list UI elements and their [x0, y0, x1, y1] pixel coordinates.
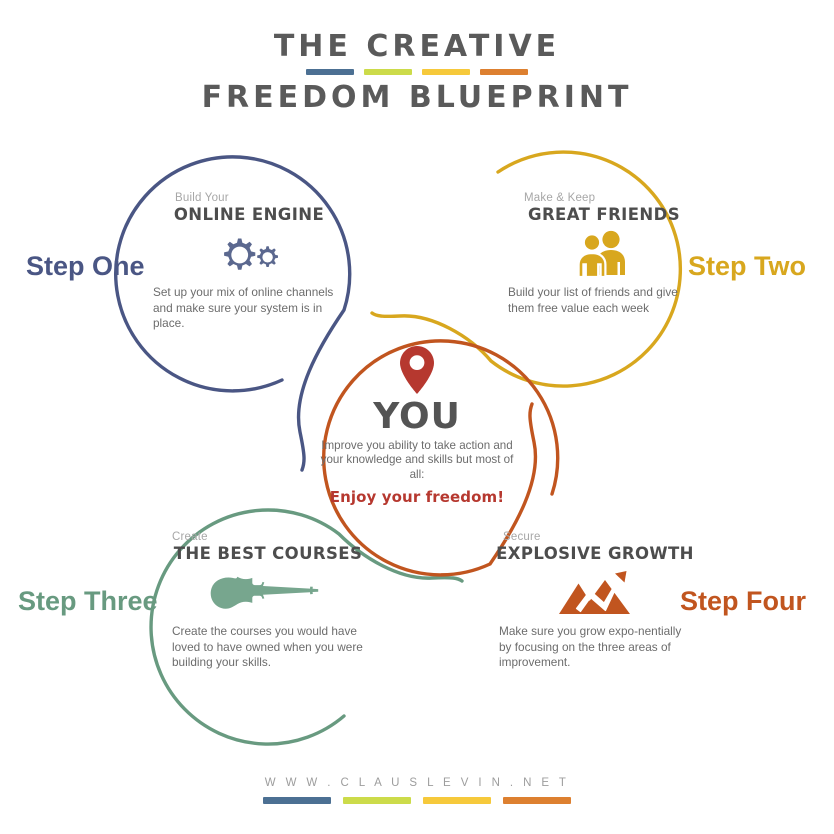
footer: W W W . C L A U S L E V I N . N E T	[0, 777, 834, 806]
electric-guitar-icon	[160, 568, 376, 620]
footer-bar-1	[263, 797, 331, 804]
footer-website-url[interactable]: W W W . C L A U S L E V I N . N E T	[0, 777, 834, 789]
step-one-blurb: Set up your mix of online channels and m…	[141, 285, 357, 332]
footer-bar-3	[423, 797, 491, 804]
center-title: YOU	[317, 397, 517, 437]
two-people-icon	[496, 229, 712, 281]
step-node-two: Make & Keep GREAT FRIENDS Build your lis…	[496, 192, 712, 316]
step-label-three: Step Three	[18, 586, 158, 617]
step-two-eyebrow: Make & Keep	[524, 192, 712, 205]
gears-icon	[141, 229, 357, 281]
step-three-blurb: Create the courses you would have loved …	[160, 624, 376, 671]
step-one-headline: ONLINE ENGINE	[141, 205, 357, 224]
center-blurb: Improve you ability to take action and y…	[317, 439, 517, 482]
map-pin-icon	[317, 343, 517, 395]
step-three-eyebrow: Create	[172, 531, 376, 544]
step-three-headline: THE BEST COURSES	[160, 544, 376, 563]
step-four-blurb: Make sure you grow expo-nentially by foc…	[487, 624, 703, 671]
step-four-eyebrow: Secure	[503, 531, 703, 544]
center-node: YOU Improve you ability to take action a…	[317, 343, 517, 506]
step-node-three: Create THE BEST COURSES Create the cour	[160, 531, 376, 671]
center-cta: Enjoy your freedom!	[317, 488, 517, 506]
step-two-blurb: Build your list of friends and give them…	[496, 285, 712, 316]
step-one-eyebrow: Build Your	[175, 192, 357, 205]
step-four-headline: EXPLOSIVE GROWTH	[487, 544, 703, 563]
step-node-one: Build Your ONLINE ENGINE Set up your mix…	[141, 192, 357, 332]
step-label-one: Step One	[26, 251, 145, 282]
footer-color-bars	[0, 797, 834, 804]
footer-bar-2	[343, 797, 411, 804]
infographic-canvas: THE CREATIVE FREEDOM BLUEPRINT Step One …	[0, 0, 834, 834]
footer-bar-4	[503, 797, 571, 804]
step-node-four: Secure EXPLOSIVE GROWTH Make sure you gr…	[487, 531, 703, 671]
growth-mountain-icon	[487, 568, 703, 620]
step-two-headline: GREAT FRIENDS	[496, 205, 712, 224]
